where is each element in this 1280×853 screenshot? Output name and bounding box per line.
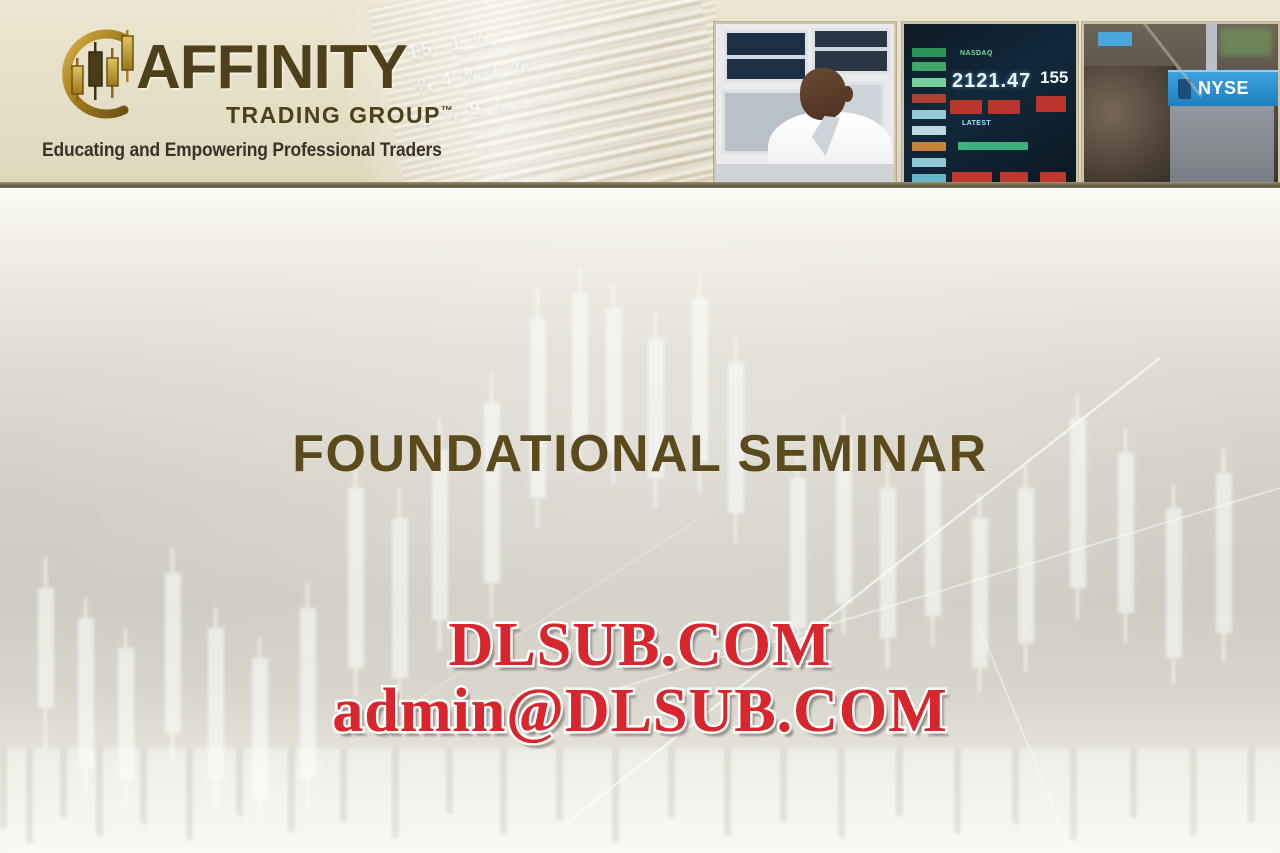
- latest-label: LATEST: [962, 120, 1078, 127]
- trader-at-desk-photo: [714, 22, 896, 188]
- index-value: 2121.47: [952, 70, 1031, 93]
- seminar-slide: 15 1 ⅛¾ 4 ⅜ 1 ⅝2 ½ 9 ⅞: [0, 0, 1280, 853]
- nyse-floor-photo: NYSE: [1082, 22, 1280, 188]
- watermark-line2: admin@DLSUB.COM: [0, 676, 1280, 747]
- brand-tagline: Educating and Empowering Professional Tr…: [42, 140, 442, 162]
- brand-subtitle: TRADING GROUP™: [226, 102, 455, 129]
- candlestick-arc-logo-icon: [52, 24, 144, 124]
- background-haze: [0, 188, 1280, 853]
- nyse-sign-label: NYSE: [1198, 78, 1249, 99]
- slide-body: FOUNDATIONAL SEMINAR DLSUB.COM DLSUB.COM…: [0, 188, 1280, 853]
- page-title: FOUNDATIONAL SEMINAR: [0, 424, 1280, 484]
- watermark-line1: DLSUB.COM: [0, 610, 1280, 681]
- site-header: 15 1 ⅛¾ 4 ⅜ 1 ⅝2 ½ 9 ⅞: [0, 0, 1280, 188]
- brand-logo[interactable]: AFFINITY TRADING GROUP™: [40, 22, 500, 142]
- nasdaq-label: NASDAQ: [960, 50, 1078, 57]
- market-data-board-photo: NASDAQ 2121.47 155 LATEST: [902, 22, 1078, 188]
- right-value: 155: [1040, 68, 1068, 88]
- brand-wordmark: AFFINITY: [136, 38, 407, 98]
- trademark-symbol: ™: [441, 103, 455, 117]
